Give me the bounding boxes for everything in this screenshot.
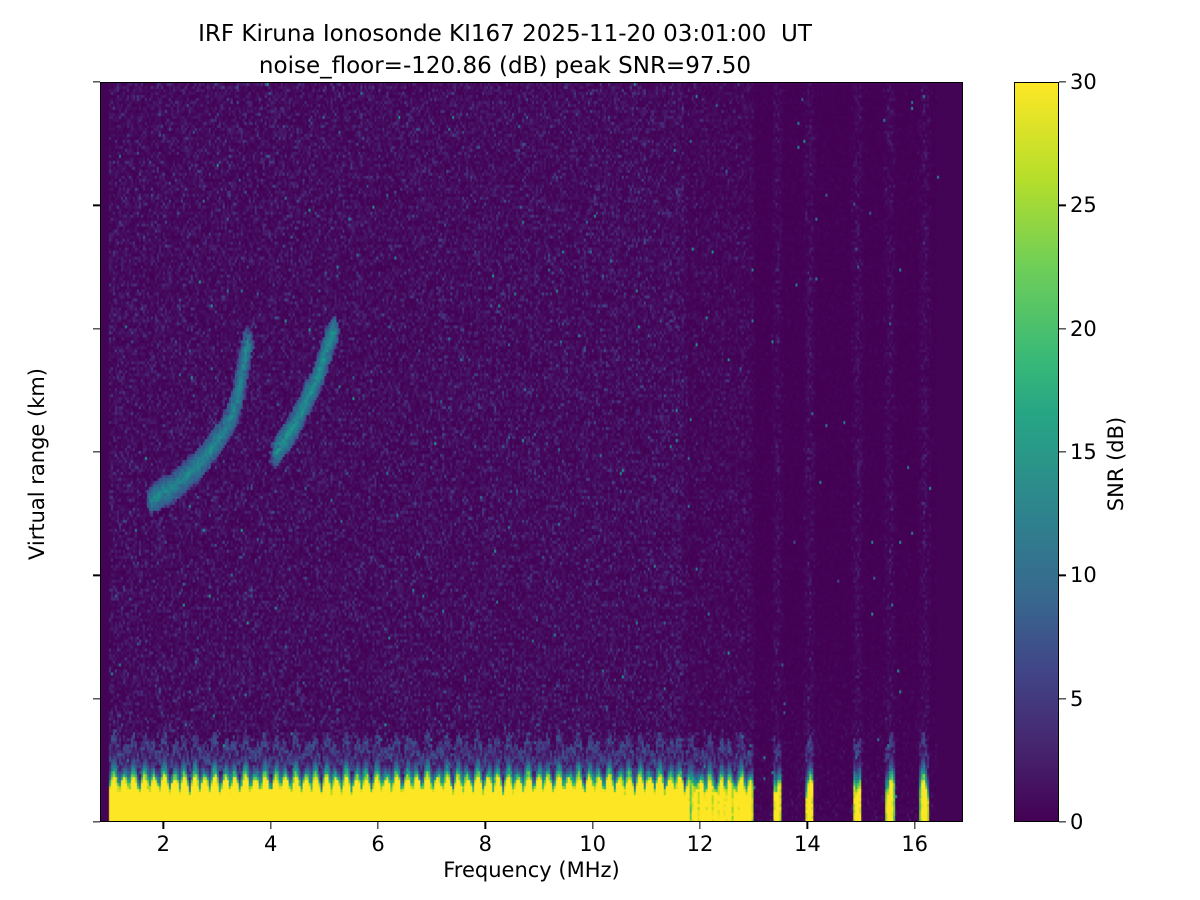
x-tick-label: 8 [479, 832, 492, 856]
x-tick-label: 14 [794, 832, 821, 856]
colorbar-tick-label: 0 [1070, 810, 1083, 834]
y-tick-mark [93, 821, 100, 822]
figure-title-line1: IRF Kiruna Ionosonde KI167 2025-11-20 03… [0, 18, 1010, 50]
x-tick-mark [914, 822, 915, 829]
plot-area [100, 82, 963, 822]
x-tick-mark [485, 822, 486, 829]
y-tick-mark [93, 575, 100, 576]
figure-title: IRF Kiruna Ionosonde KI167 2025-11-20 03… [0, 18, 1010, 82]
figure-title-line2: noise_floor=-120.86 (dB) peak SNR=97.50 [0, 50, 1010, 82]
x-tick-label: 2 [157, 832, 170, 856]
colorbar-tick-mark [1059, 575, 1066, 576]
colorbar-tick-mark [1059, 205, 1066, 206]
y-axis-label: Virtual range (km) [25, 184, 49, 744]
x-tick-label: 12 [687, 832, 714, 856]
y-tick-mark [93, 451, 100, 452]
y-tick-mark [93, 698, 100, 699]
x-tick-label: 10 [579, 832, 606, 856]
x-tick-mark [807, 822, 808, 829]
colorbar-tick-mark [1059, 328, 1066, 329]
x-axis-label: Frequency (MHz) [100, 858, 963, 882]
y-tick-mark [93, 328, 100, 329]
colorbar-tick-label: 10 [1070, 563, 1097, 587]
colorbar [1014, 82, 1059, 822]
ionogram-figure: IRF Kiruna Ionosonde KI167 2025-11-20 03… [0, 0, 1200, 900]
x-tick-label: 6 [371, 832, 384, 856]
colorbar-tick-label: 15 [1070, 440, 1097, 464]
colorbar-tick-mark [1059, 698, 1066, 699]
colorbar-tick-mark [1059, 821, 1066, 822]
x-tick-label: 16 [901, 832, 928, 856]
ionogram-heatmap [101, 83, 962, 821]
x-tick-mark [699, 822, 700, 829]
y-tick-mark [93, 81, 100, 82]
x-tick-label: 4 [264, 832, 277, 856]
colorbar-tick-label: 20 [1070, 317, 1097, 341]
x-tick-mark [270, 822, 271, 829]
x-tick-mark [377, 822, 378, 829]
y-tick-mark [93, 205, 100, 206]
colorbar-tick-label: 30 [1070, 70, 1097, 94]
colorbar-tick-label: 25 [1070, 193, 1097, 217]
x-tick-mark [163, 822, 164, 829]
colorbar-tick-mark [1059, 451, 1066, 452]
colorbar-tick-mark [1059, 81, 1066, 82]
colorbar-tick-label: 5 [1070, 687, 1083, 711]
x-tick-mark [592, 822, 593, 829]
colorbar-label: SNR (dB) [1104, 264, 1128, 664]
